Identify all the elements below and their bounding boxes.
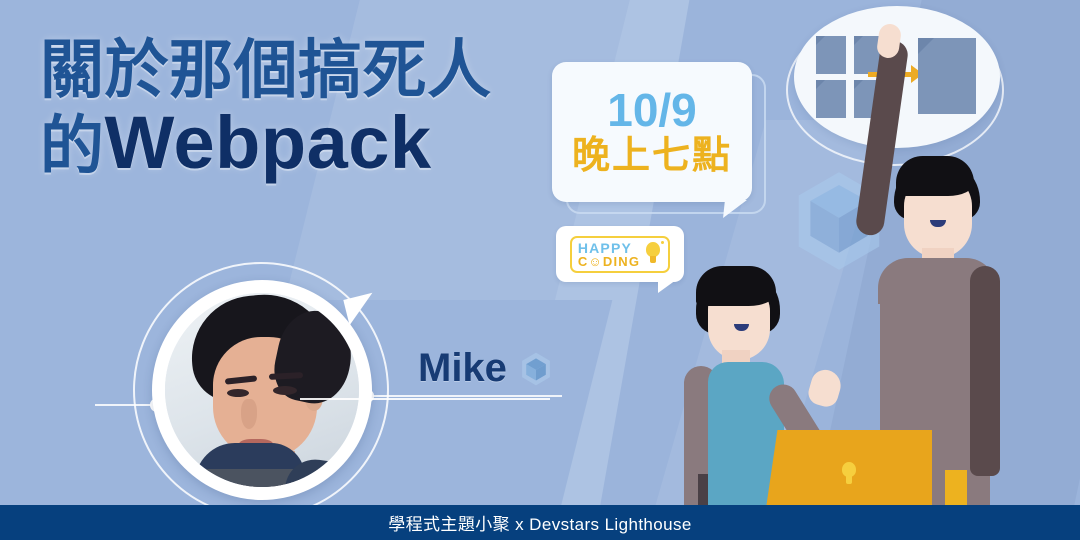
happy-coding-frame: HAPPY C☺DING bbox=[570, 236, 670, 273]
lightbulb-icon bbox=[644, 242, 662, 266]
badge-line-1: HAPPY bbox=[578, 241, 640, 255]
person-seated-with-laptop bbox=[672, 262, 902, 512]
footer-bar: 學程式主題小聚 x Devstars Lighthouse bbox=[0, 505, 1080, 540]
accent-tab bbox=[945, 470, 967, 505]
happy-coding-bubble: HAPPY C☺DING bbox=[556, 226, 684, 282]
file-icon bbox=[816, 80, 846, 118]
happy-coding-badge-group: HAPPY C☺DING bbox=[556, 226, 684, 282]
date-card-group: 10/9 晚上七點 bbox=[552, 62, 752, 202]
speaker-name-underline bbox=[300, 398, 550, 400]
headline-line-2-latin: Webpack bbox=[105, 101, 432, 184]
footer-text: 學程式主題小聚 x Devstars Lighthouse bbox=[388, 510, 692, 535]
headline-block: 關於那個搞死人 的Webpack bbox=[40, 38, 492, 181]
poster-canvas: 關於那個搞死人 的Webpack 10/9 晚上七點 HAPPY C☺DING bbox=[0, 0, 1080, 540]
headline-line-1: 關於那個搞死人 bbox=[40, 38, 492, 103]
event-date: 10/9 bbox=[607, 87, 697, 133]
webpack-cube-icon bbox=[519, 351, 553, 387]
avatar bbox=[152, 280, 372, 500]
speaker-name-row: Mike bbox=[418, 346, 553, 391]
event-time: 晚上七點 bbox=[572, 137, 732, 177]
file-icon bbox=[816, 36, 846, 74]
speaker-name: Mike bbox=[418, 346, 507, 391]
laptop-lightbulb-icon bbox=[840, 462, 858, 488]
headline-line-2-cjk: 的 bbox=[40, 110, 105, 182]
connector-line-right bbox=[372, 395, 562, 397]
date-card: 10/9 晚上七點 bbox=[552, 62, 752, 202]
headline-line-2: 的Webpack bbox=[40, 105, 492, 180]
happy-coding-text: HAPPY C☺DING bbox=[578, 241, 640, 268]
avatar-photo bbox=[165, 293, 359, 487]
badge-line-2: C☺DING bbox=[578, 255, 640, 268]
